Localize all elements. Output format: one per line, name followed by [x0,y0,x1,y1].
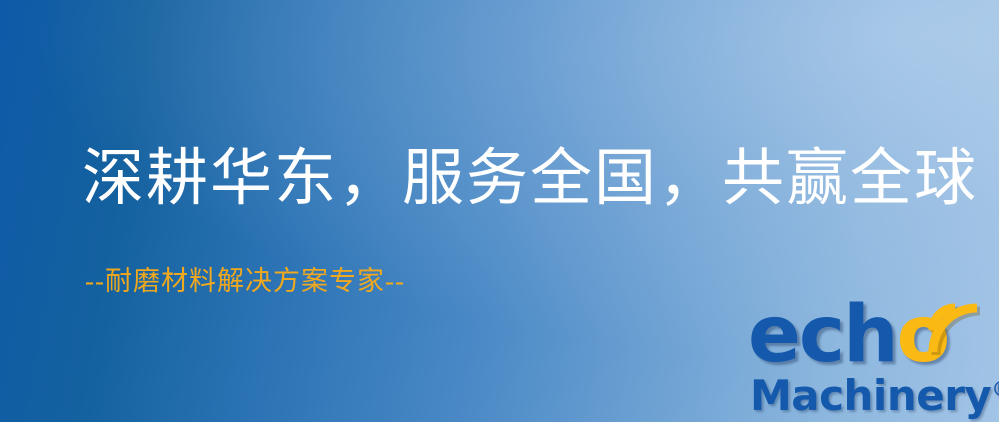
logo-company-text: Machinery [750,371,991,420]
registered-trademark-icon: ® [991,377,999,401]
echo-signal-waves-icon [920,294,994,356]
promo-banner: 深耕华东，服务全国，共赢全球 --耐磨材料解决方案专家-- echo Machi… [0,0,999,422]
logo-company-name: Machinery® [750,368,999,417]
banner-subtitle: --耐磨材料解决方案专家-- [85,268,405,295]
banner-headline: 深耕华东，服务全国，共赢全球 [82,148,978,210]
echo-machinery-logo: echo Machinery® [748,296,994,418]
logo-wordmark: echo [748,296,948,374]
logo-wordmark-prefix: ech [748,290,897,380]
